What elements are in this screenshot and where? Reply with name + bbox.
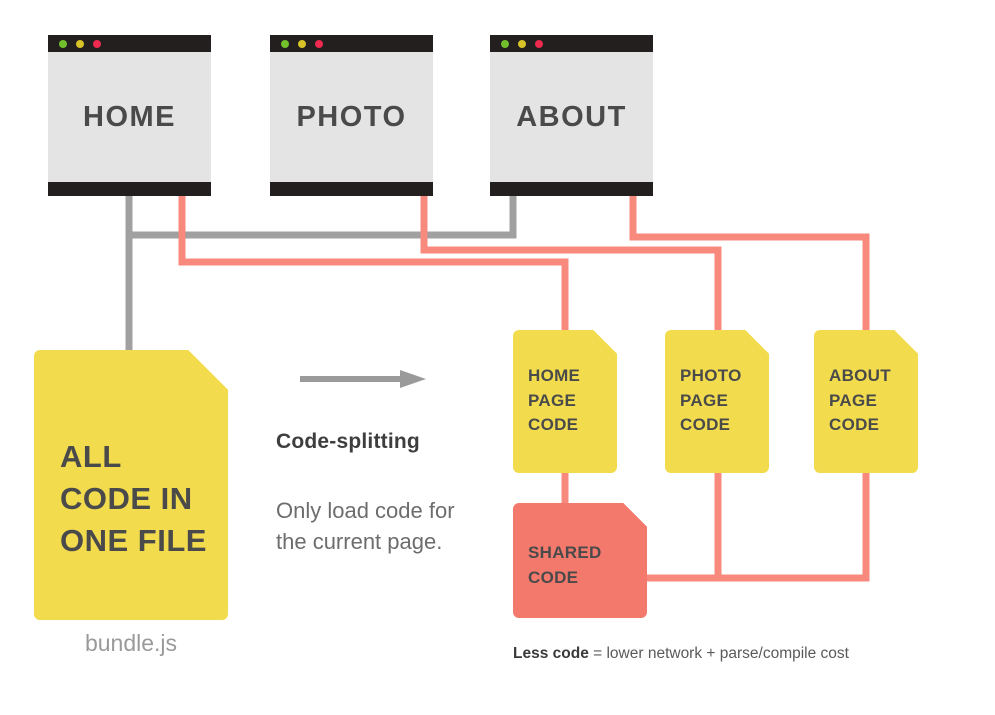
code-splitting-title: Code-splitting	[276, 430, 420, 454]
document-bundle-line-1: ALL	[60, 436, 228, 478]
wire-shared-to-about-chunk	[647, 473, 866, 578]
chunk-line-2: PAGE	[680, 389, 769, 414]
traffic-light-red-icon	[315, 40, 323, 48]
code-splitting-description: Only load code for the current page.	[276, 495, 476, 557]
browser-titlebar	[48, 35, 211, 52]
document-home-page-code-text: HOME PAGE CODE	[513, 364, 617, 438]
document-about-page-code-text: ABOUT PAGE CODE	[814, 364, 918, 438]
traffic-light-green-icon	[281, 40, 289, 48]
document-bundle-line-2: CODE IN	[60, 478, 228, 520]
document-bundle-line-3: ONE FILE	[60, 520, 228, 562]
browser-page-label: ABOUT	[516, 101, 627, 134]
shared-line-1: SHARED	[528, 541, 647, 566]
browser-footer-bar	[270, 182, 433, 196]
chunk-line-1: PHOTO	[680, 364, 769, 389]
document-shared-code[interactable]: SHARED CODE	[513, 503, 647, 618]
diagram-canvas: HOME PHOTO ABOUT ALL CODE IN	[0, 0, 995, 715]
wire-home-to-home-chunk	[182, 196, 565, 330]
browser-footer-bar	[490, 182, 653, 196]
wire-about-to-bundle	[129, 196, 513, 235]
page-fold-edge-icon	[188, 350, 228, 390]
traffic-light-green-icon	[501, 40, 509, 48]
document-bundle-text: ALL CODE IN ONE FILE	[34, 436, 228, 562]
document-photo-page-code-text: PHOTO PAGE CODE	[665, 364, 769, 438]
shared-line-2: CODE	[528, 566, 647, 591]
browser-titlebar	[490, 35, 653, 52]
arrow-right-icon	[300, 368, 426, 395]
browser-footer-bar	[48, 182, 211, 196]
chunk-line-2: PAGE	[829, 389, 918, 414]
browser-viewport: ABOUT	[490, 52, 653, 182]
page-fold-edge-icon	[623, 503, 647, 527]
chunk-line-3: CODE	[528, 413, 617, 438]
browser-window-home[interactable]: HOME	[48, 35, 211, 196]
traffic-light-yellow-icon	[518, 40, 526, 48]
bottom-note-emphasis: Less code	[513, 645, 589, 662]
bottom-note: Less code = lower network + parse/compil…	[513, 645, 849, 663]
document-home-page-code[interactable]: HOME PAGE CODE	[513, 330, 617, 473]
browser-window-about[interactable]: ABOUT	[490, 35, 653, 196]
document-about-page-code[interactable]: ABOUT PAGE CODE	[814, 330, 918, 473]
browser-page-label: PHOTO	[296, 101, 406, 134]
chunk-line-3: CODE	[680, 413, 769, 438]
page-fold-edge-icon	[593, 330, 617, 354]
traffic-light-yellow-icon	[76, 40, 84, 48]
document-bundle[interactable]: ALL CODE IN ONE FILE	[34, 350, 228, 620]
chunk-line-1: HOME	[528, 364, 617, 389]
bottom-note-rest: = lower network + parse/compile cost	[589, 645, 849, 662]
page-fold-edge-icon	[745, 330, 769, 354]
wire-about-to-about-chunk	[633, 196, 866, 330]
traffic-light-yellow-icon	[298, 40, 306, 48]
chunk-line-3: CODE	[829, 413, 918, 438]
browser-viewport: HOME	[48, 52, 211, 182]
document-photo-page-code[interactable]: PHOTO PAGE CODE	[665, 330, 769, 473]
document-shared-code-text: SHARED CODE	[513, 541, 647, 590]
browser-page-label: HOME	[83, 101, 176, 134]
chunk-line-2: PAGE	[528, 389, 617, 414]
browser-viewport: PHOTO	[270, 52, 433, 182]
browser-titlebar	[270, 35, 433, 52]
gray-wire-group	[129, 196, 513, 350]
bundle-filename-caption: bundle.js	[34, 630, 228, 657]
traffic-light-green-icon	[59, 40, 67, 48]
chunk-line-1: ABOUT	[829, 364, 918, 389]
traffic-light-red-icon	[93, 40, 101, 48]
browser-window-photo[interactable]: PHOTO	[270, 35, 433, 196]
traffic-light-red-icon	[535, 40, 543, 48]
page-fold-edge-icon	[894, 330, 918, 354]
